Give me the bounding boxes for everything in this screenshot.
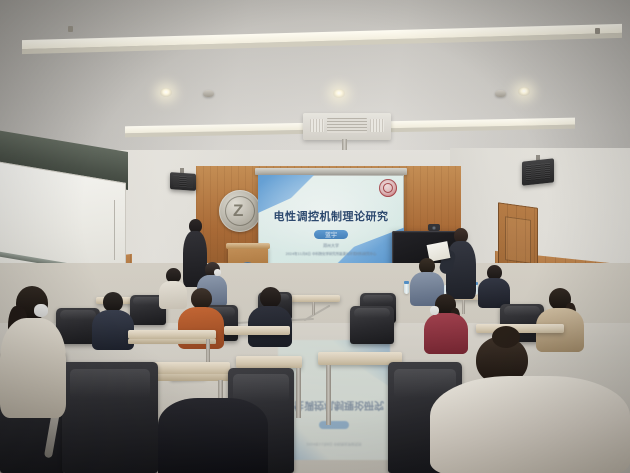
water-bottle-1: [404, 283, 409, 294]
audience-12-mask: [34, 304, 48, 317]
audience-7-head: [260, 287, 281, 308]
university-wall-emblem-glyph: Z: [233, 202, 243, 219]
person-reading-papers: [443, 228, 479, 300]
desk-front-row-center: [236, 356, 302, 368]
smoke-detector-1: [203, 90, 214, 97]
slide-title: 电性调控机制理论研究: [258, 208, 404, 224]
audience-member-4: [478, 265, 510, 307]
audience-6-head: [191, 288, 212, 309]
chair-mid-3: [350, 306, 394, 344]
desk-front-center: [290, 295, 340, 302]
led-mount-left: [68, 26, 73, 32]
desk-mid-center: [224, 326, 290, 335]
desk-front-row-right-leg: [326, 365, 331, 425]
downlight-1: [160, 88, 172, 97]
left-speaker-grille: [173, 175, 193, 187]
water-bottle-1-cap: [404, 281, 409, 284]
chair-foreground-1: [62, 362, 158, 473]
audience-11-hair-bun: [492, 326, 520, 348]
ac-vent-left: [310, 119, 324, 132]
audience-11-body: [430, 376, 630, 473]
monitor-camera-lens: [432, 226, 436, 230]
desk-front-row-center-leg: [296, 368, 301, 418]
audience-member-11: [430, 336, 630, 473]
audience-12-body: [0, 318, 66, 418]
downlight-2: [333, 89, 345, 98]
audience-member-7: [248, 287, 292, 345]
lecture-hall-photo: Z 电性调控机制理论研究 蓝宇 郑州大学 2024年11月8日 中科院化学研究所…: [0, 0, 630, 473]
desk-front-center-leg: [312, 302, 315, 315]
audience-member-8: [158, 398, 268, 473]
audience-member-12: [0, 286, 70, 426]
whiteboard-pull-cord: [114, 200, 115, 260]
led-mount-right: [595, 28, 600, 34]
audience-9-mask: [430, 306, 439, 315]
ac-vent-right: [370, 119, 384, 132]
university-logo: [379, 179, 397, 197]
door-panel-upper: [505, 216, 531, 264]
ac-grille-center: [327, 118, 367, 133]
right-speaker-grille: [526, 163, 550, 182]
desk-mid-left: [128, 330, 216, 339]
desk-mid-right: [476, 324, 564, 333]
projection-screen: 电性调控机制理论研究 蓝宇 郑州大学 2024年11月8日 中科院化学研究所能源…: [258, 175, 404, 264]
lectern-top-surface: [226, 243, 270, 249]
slide-footer: 2024年11月8日 中科院化学研究所能源与环境材料研究中心: [258, 251, 404, 256]
desk-mid-left-front: [128, 339, 216, 344]
audience-2-mask: [214, 269, 221, 276]
slide-presenter-badge: 蓝宇: [314, 230, 348, 239]
smoke-detector-2: [495, 90, 506, 97]
audience-5-head: [103, 292, 123, 312]
projection-screen-case: [255, 168, 407, 175]
downlight-3: [518, 87, 530, 96]
audience-8-body: [158, 398, 268, 473]
slide-affiliation: 郑州大学: [258, 243, 404, 249]
